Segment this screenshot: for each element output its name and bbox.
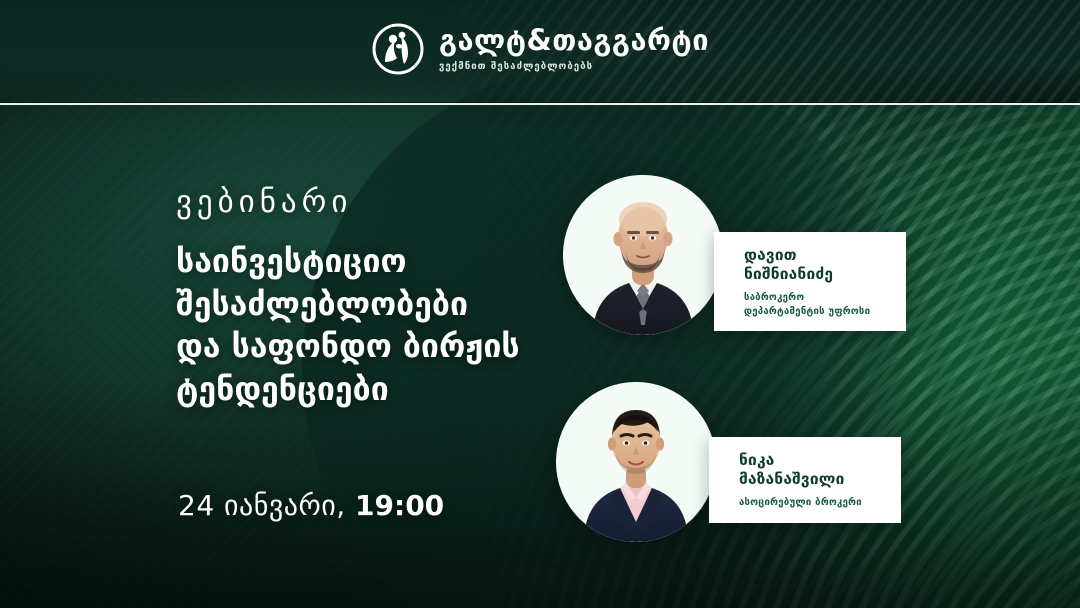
webinar-headline: საინვესტიციო შესაძლებლობები და საფონდო ბ… — [176, 240, 596, 410]
speaker-2-name-line2: მაზანაშვილი — [739, 470, 883, 489]
brand-subtitle: ვექმნით შესაძლებლობებს — [439, 62, 593, 72]
header-divider-line — [0, 103, 1080, 105]
speaker-1-role: საბროკერო დეპარტამენტის უფროსი — [744, 291, 888, 319]
headline-line-3: და საფონდო ბირჟის — [176, 325, 596, 368]
speaker-2-name-line1: ნიკა — [739, 451, 883, 470]
headline-line-4: ტენდენციები — [176, 368, 596, 411]
event-datetime: 24 იანვარი, 19:00 — [178, 489, 444, 522]
webinar-kicker: ვებინარი — [176, 184, 352, 220]
event-time: 19:00 — [355, 489, 444, 522]
headline-line-2: შესაძლებლობები — [176, 283, 596, 326]
brand-logo: გალტ&თაგგარტი ვექმნით შესაძლებლობებს — [0, 22, 1080, 76]
webinar-promo-banner: გალტ&თაგგარტი ვექმნით შესაძლებლობებს ვებ… — [0, 0, 1080, 608]
galt-taggart-emblem-icon — [371, 22, 425, 76]
headline-line-1: საინვესტიციო — [176, 240, 596, 283]
speaker-2-role: ასოცირებული ბროკერი — [739, 496, 883, 510]
speaker-1-name-card: დავით ნიშნიანიძე საბროკერო დეპარტამენტის… — [714, 232, 906, 331]
speaker-1-name-line1: დავით — [744, 246, 888, 265]
brand-title: გალტ&თაგგარტი — [439, 26, 709, 55]
speaker-1-name-line2: ნიშნიანიძე — [744, 265, 888, 284]
event-date: 24 იანვარი, — [178, 489, 346, 522]
speaker-2-avatar — [556, 382, 716, 542]
speaker-2-name-card: ნიკა მაზანაშვილი ასოცირებული ბროკერი — [709, 437, 901, 523]
speaker-1-avatar — [563, 175, 723, 335]
